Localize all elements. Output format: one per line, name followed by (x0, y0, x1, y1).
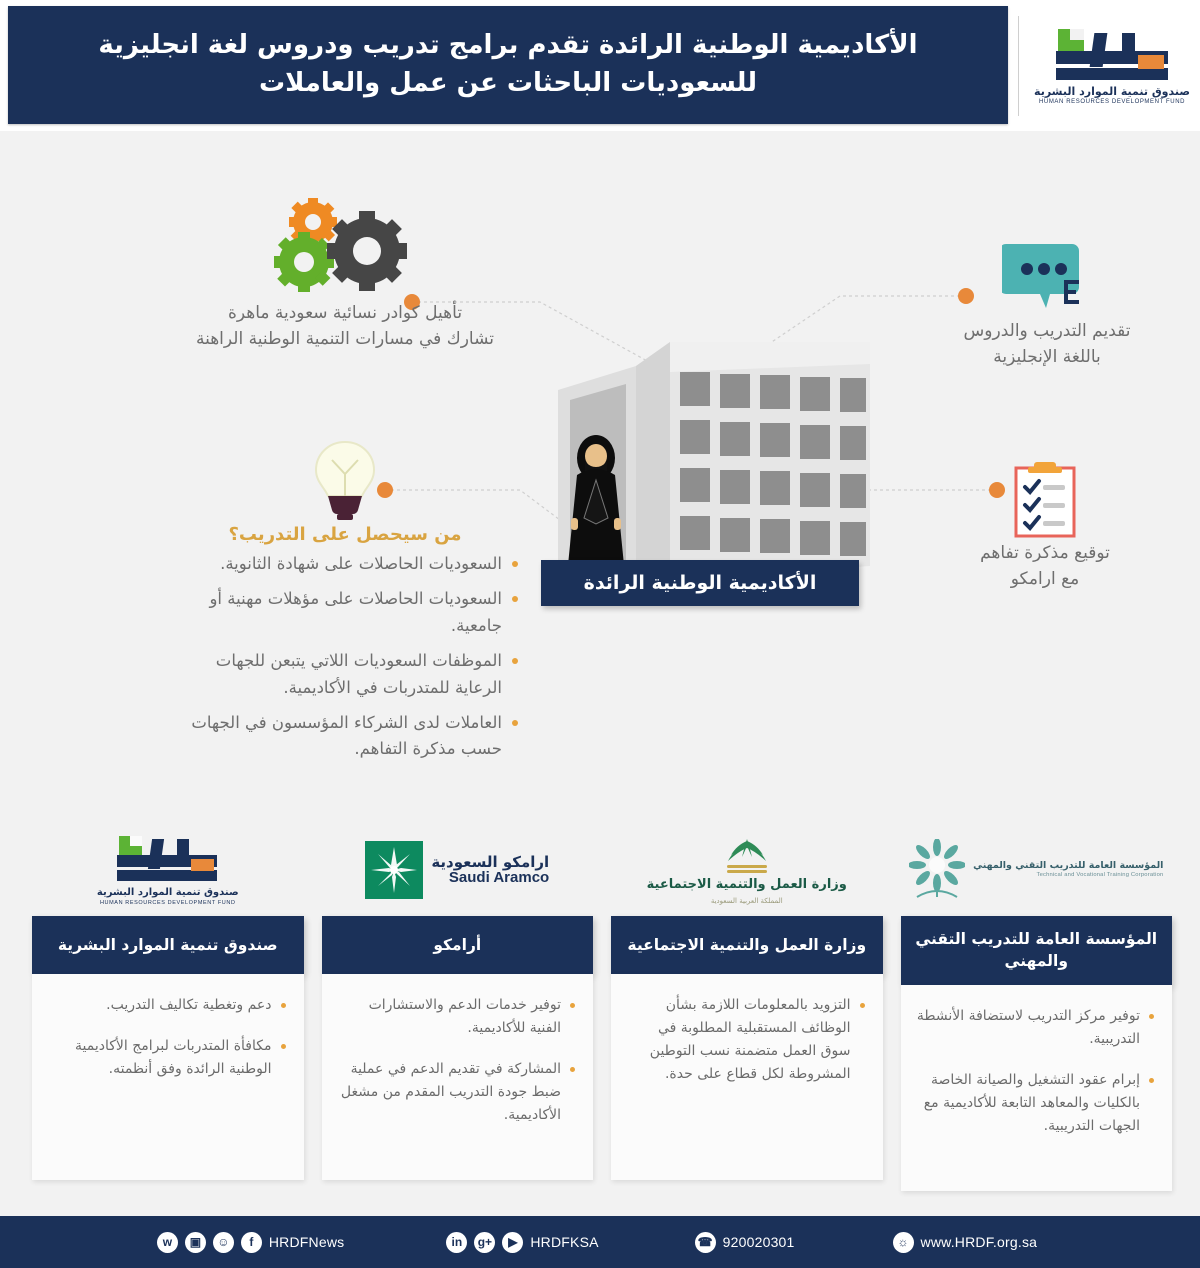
tvtc-logo: المؤسسة العامة للتدريب التقني والمهني Te… (901, 824, 1173, 916)
hrdf-card-title: صندوق تنمية الموارد البشرية (32, 916, 304, 974)
aramco-card-body: توفير خدمات الدعم والاستشارات الفنية للأ… (322, 974, 594, 1180)
header-title-band: الأكاديمية الوطنية الرائدة تقدم برامج تد… (8, 6, 1008, 124)
saudi-palm-swords-icon (721, 835, 773, 875)
list-item: توفير مركز التدريب لاستضافة الأنشطة التد… (917, 1005, 1157, 1051)
eligibility-list: السعوديات الحاصلات على شهادة الثانوية. ا… (170, 551, 520, 763)
snapchat-icon[interactable]: ☺ (213, 1232, 234, 1253)
list-item: إبرام عقود التشغيل والصيانة الخاصة بالكل… (917, 1069, 1157, 1138)
tvtc-card-body: توفير مركز التدريب لاستضافة الأنشطة التد… (901, 985, 1173, 1191)
building-main (636, 342, 870, 580)
hrdf-card-logo-arabic: صندوق تنمية الموارد البشرية (97, 887, 239, 898)
googleplus-icon[interactable]: g+ (474, 1232, 495, 1253)
hrdf-card-logo-english: HUMAN RESOURCES DEVELOPMENT FUND (100, 900, 236, 906)
list-item: الموظفات السعوديات اللاتي يتبعن للجهات ا… (170, 648, 520, 701)
aramco-logo: ارامكو السعودية Saudi Aramco (322, 824, 594, 916)
hrdf-logo-icon (109, 834, 227, 884)
globe-icon: ☼ (893, 1232, 914, 1253)
ministry-logo-subtitle: المملكة العربية السعودية (711, 897, 783, 905)
phone-icon: ☎ (695, 1232, 716, 1253)
list-item: دعم وتغطية تكاليف التدريب. (48, 994, 288, 1017)
chat-bubble-icon (1002, 238, 1092, 318)
website-group: ☼ www.HRDF.org.sa (893, 1232, 1044, 1253)
phone-group: ☎ 920020301 (695, 1232, 801, 1253)
aramco-logo-arabic: ارامكو السعودية (431, 854, 549, 871)
hrdf-card-logo: صندوق تنمية الموارد البشرية HUMAN RESOUR… (32, 824, 304, 916)
list-item: التزويد بالمعلومات اللازمة بشأن الوظائف … (627, 994, 867, 1086)
callout-gears-line1: تأهيل كوادر نسائية سعودية ماهرة (180, 300, 510, 326)
callout-chat-line2: باللغة الإنجليزية (918, 344, 1176, 370)
website-url[interactable]: www.HRDF.org.sa (921, 1234, 1038, 1250)
instagram-icon[interactable]: ▣ (185, 1232, 206, 1253)
page-footer: w ▣ ☺ f HRDFNews in g+ ▶ HRDFKSA ☎ 92002… (0, 1216, 1200, 1268)
infographic-page: الأكاديمية الوطنية الرائدة تقدم برامج تد… (0, 0, 1200, 1268)
hrdf-card-body: دعم وتغطية تكاليف التدريب. مكافأة المتدر… (32, 974, 304, 1180)
social-primary-group: w ▣ ☺ f HRDFNews (157, 1232, 351, 1253)
hrdf-logo-english-text: HUMAN RESOURCES DEVELOPMENT FUND (1039, 99, 1185, 105)
linkedin-icon[interactable]: in (446, 1232, 467, 1253)
list-item: المشاركة في تقديم الدعم في عملية ضبط جود… (338, 1058, 578, 1127)
eligibility-heading: من سيحصل على التدريب؟ (170, 524, 520, 545)
callout-gears: تأهيل كوادر نسائية سعودية ماهرة تشارك في… (180, 196, 510, 353)
callout-clipboard-line1: توقيع مذكرة تفاهم (920, 540, 1170, 566)
page-title: الأكاديمية الوطنية الرائدة تقدم برامج تد… (8, 27, 1008, 102)
hrdf-header-logo: صندوق تنمية الموارد البشرية HUMAN RESOUR… (1032, 14, 1192, 118)
aramco-starburst-icon (365, 841, 423, 899)
hrdf-logo-arabic-text: صندوق تنمية الموارد البشرية (1034, 85, 1190, 98)
partner-cards: المؤسسة العامة للتدريب التقني والمهني Te… (32, 824, 1172, 1196)
partner-card-ministry-labor: وزارة العمل والتنمية الاجتماعية المملكة … (611, 824, 883, 1196)
partner-card-aramco: ارامكو السعودية Saudi Aramco (322, 824, 594, 1196)
tvtc-card-title: المؤسسة العامة للتدريب التقني والمهني (901, 916, 1173, 985)
ministry-card-title: وزارة العمل والتنمية الاجتماعية (611, 916, 883, 974)
tvtc-starburst-icon (909, 839, 965, 901)
youtube-icon[interactable]: ▶ (502, 1232, 523, 1253)
callout-clipboard: توقيع مذكرة تفاهم مع ارامكو (920, 436, 1170, 593)
social-secondary-group: in g+ ▶ HRDFKSA (446, 1232, 604, 1253)
partner-card-tvtc: المؤسسة العامة للتدريب التقني والمهني Te… (901, 824, 1173, 1196)
list-item: توفير خدمات الدعم والاستشارات الفنية للأ… (338, 994, 578, 1040)
ministry-card-body: التزويد بالمعلومات اللازمة بشأن الوظائف … (611, 974, 883, 1180)
header-divider (1018, 16, 1019, 116)
page-header: الأكاديمية الوطنية الرائدة تقدم برامج تد… (0, 0, 1200, 131)
social-secondary-label: HRDFKSA (530, 1234, 598, 1250)
tvtc-logo-arabic: المؤسسة العامة للتدريب التقني والمهني (973, 860, 1163, 872)
aramco-card-title: أرامكو (322, 916, 594, 974)
callout-clipboard-line2: مع ارامكو (920, 566, 1170, 592)
list-item: العاملات لدى الشركاء المؤسسون في الجهات … (170, 710, 520, 763)
lightbulb-icon (306, 438, 384, 524)
academy-name-label: الأكاديمية الوطنية الرائدة (541, 560, 859, 606)
social-primary-label: HRDFNews (269, 1234, 345, 1250)
tvtc-logo-english: Technical and Vocational Training Corpor… (973, 872, 1163, 880)
phone-number: 920020301 (723, 1234, 795, 1250)
callout-chat: تقديم التدريب والدروس باللغة الإنجليزية (918, 214, 1176, 371)
callout-gears-line2: تشارك في مسارات التنمية الوطنية الراهنة (180, 326, 510, 352)
aramco-logo-english: Saudi Aramco (431, 870, 549, 887)
gears-icon (270, 196, 420, 300)
list-item: مكافأة المتدربات لبرامج الأكاديمية الوطن… (48, 1035, 288, 1081)
ministry-logo: وزارة العمل والتنمية الاجتماعية المملكة … (611, 824, 883, 916)
callout-eligibility: من سيحصل على التدريب؟ السعوديات الحاصلات… (170, 420, 520, 772)
list-item: السعوديات الحاصلات على مؤهلات مهنية أو ج… (170, 586, 520, 639)
callout-chat-line1: تقديم التدريب والدروس (918, 318, 1176, 344)
hrdf-logo-icon (1046, 27, 1178, 83)
list-item: السعوديات الحاصلات على شهادة الثانوية. (170, 551, 520, 577)
clipboard-check-icon (1012, 462, 1078, 540)
twitter-icon[interactable]: w (157, 1232, 178, 1253)
ministry-logo-arabic: وزارة العمل والتنمية الاجتماعية (647, 877, 847, 893)
facebook-icon[interactable]: f (241, 1232, 262, 1253)
partner-card-hrdf: صندوق تنمية الموارد البشرية HUMAN RESOUR… (32, 824, 304, 1196)
